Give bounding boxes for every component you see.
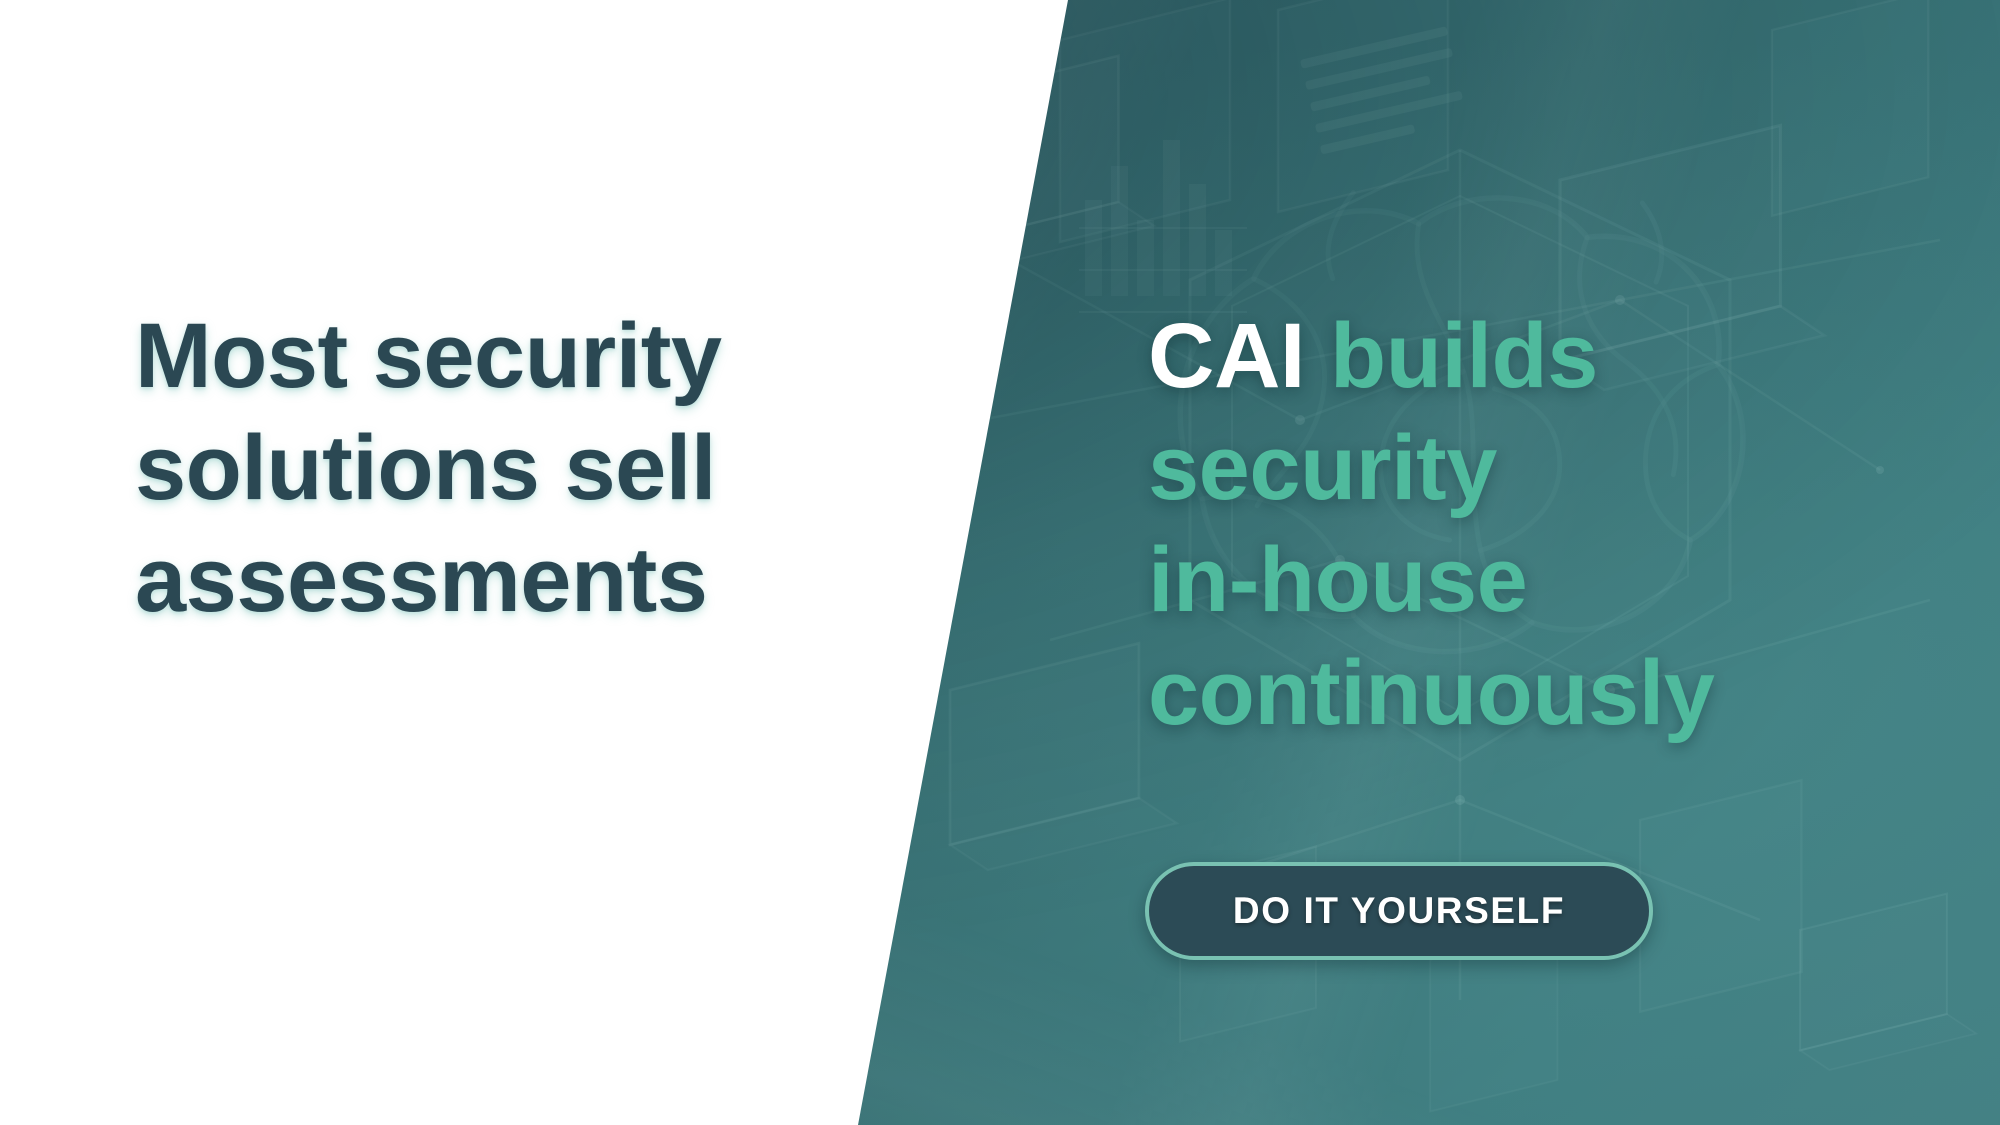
left-heading-line-2: solutions sell [135,412,895,524]
right-heading-line-3: in-house [1148,524,1948,636]
left-heading: Most security solutions sell assessments [135,300,895,637]
right-heading-line-1-rest [1305,305,1330,407]
right-copy-block: CAI builds security in-house continuousl… [1148,300,1948,749]
right-heading-line-2: security [1148,412,1948,524]
do-it-yourself-button[interactable]: DO IT YOURSELF [1145,862,1653,960]
left-heading-line-1: Most security [135,300,895,412]
hero-slide: Most security solutions sell assessments… [0,0,2000,1125]
right-heading: CAI builds security in-house continuousl… [1148,300,1948,749]
right-heading-line-1: CAI builds [1148,300,1948,412]
cta-container: DO IT YOURSELF [1145,862,1653,960]
right-heading-line-4: continuously [1148,637,1948,749]
left-copy-block: Most security solutions sell assessments [135,300,895,637]
brand-name: CAI [1148,305,1305,407]
left-heading-line-3: assessments [135,524,895,636]
right-heading-word-builds: builds [1330,305,1598,407]
